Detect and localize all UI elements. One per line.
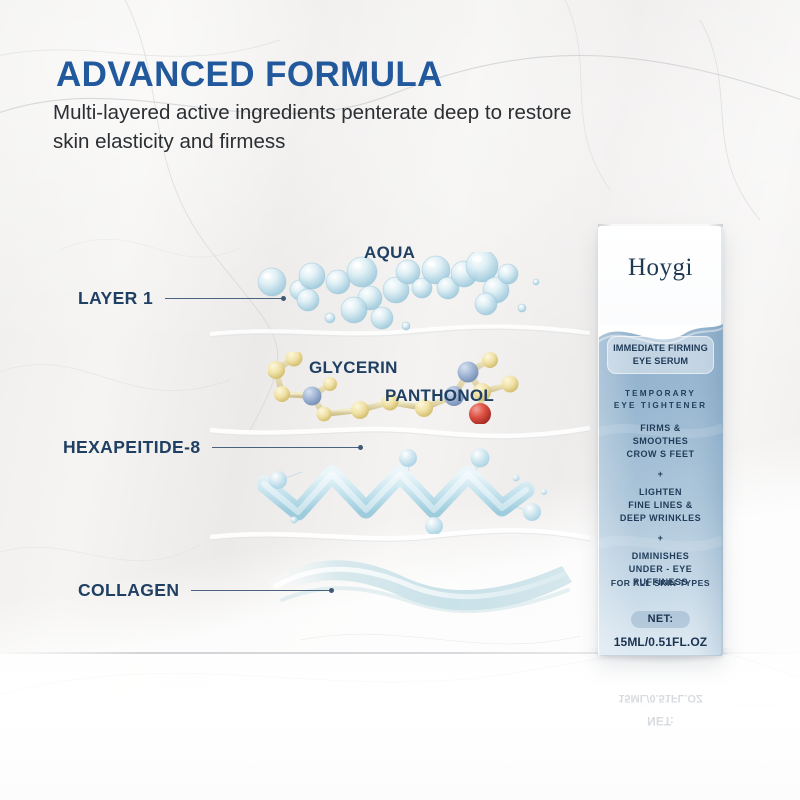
reflection-net-value: 15ML/0.51FL.OZ bbox=[598, 692, 723, 704]
claim-line: LIGHTEN bbox=[598, 486, 723, 499]
infographic-canvas: ADVANCED FORMULA Multi-layered active in… bbox=[0, 0, 800, 800]
leader-line bbox=[191, 590, 331, 591]
callout-label: HEXAPEITIDE-8 bbox=[63, 437, 200, 458]
callout-hexapeptide-8[interactable]: HEXAPEITIDE-8 bbox=[63, 437, 360, 458]
claim-line: SMOOTHES bbox=[598, 435, 723, 448]
claim-group-2: LIGHTEN FINE LINES & DEEP WRINKLES bbox=[598, 486, 723, 525]
product-name-line-2: EYE SERUM bbox=[610, 355, 711, 368]
product-name-badge: IMMEDIATE FIRMING EYE SERUM bbox=[607, 336, 714, 374]
claim-line: FIRMS & bbox=[598, 422, 723, 435]
claim-line: DIMINISHES bbox=[598, 550, 723, 563]
product-tagline: TEMPORARY EYE TIGHTENER bbox=[598, 388, 723, 412]
plus-separator: + bbox=[598, 468, 723, 481]
tagline-line-2: EYE TIGHTENER bbox=[598, 400, 723, 412]
claim-line: DEEP WRINKLES bbox=[598, 512, 723, 525]
callout-label: LAYER 1 bbox=[78, 288, 153, 309]
claim-line: UNDER - EYE bbox=[598, 563, 723, 576]
box-reflection: NET: 15ML/0.51FL.OZ bbox=[598, 658, 723, 732]
claim-line: CROW S FEET bbox=[598, 448, 723, 461]
product-name-line-1: IMMEDIATE FIRMING bbox=[610, 342, 711, 355]
peptide-helix-structure bbox=[258, 448, 552, 534]
callout-layer-1[interactable]: LAYER 1 bbox=[78, 288, 283, 309]
skin-types-note: FOR ALL SKIN TYPES bbox=[598, 578, 723, 588]
page-subtitle: Multi-layered active ingredients pentera… bbox=[53, 98, 573, 156]
product-claims: FIRMS & SMOOTHES CROW S FEET + LIGHTEN F… bbox=[598, 422, 723, 589]
brand-logo: Hoygi bbox=[598, 254, 723, 282]
reflection-net-label: NET: bbox=[598, 714, 723, 728]
product-box[interactable]: Hoygi IMMEDIATE FIRMING EYE SERUM TEMPOR… bbox=[598, 226, 723, 656]
net-value: 15ML/0.51FL.OZ bbox=[598, 635, 723, 649]
tagline-line-1: TEMPORARY bbox=[598, 388, 723, 400]
callout-label: COLLAGEN bbox=[78, 580, 179, 601]
net-label-badge: NET: bbox=[631, 611, 690, 628]
page-title: ADVANCED FORMULA bbox=[56, 55, 443, 95]
caption-aqua: AQUA bbox=[364, 243, 415, 263]
caption-panthonol: PANTHONOL bbox=[385, 386, 494, 406]
callout-collagen[interactable]: COLLAGEN bbox=[78, 580, 331, 601]
aqua-droplet-cluster bbox=[250, 252, 550, 344]
leader-line bbox=[165, 298, 283, 299]
plus-separator: + bbox=[598, 532, 723, 545]
leader-line bbox=[212, 447, 360, 448]
claim-group-1: FIRMS & SMOOTHES CROW S FEET bbox=[598, 422, 723, 461]
caption-glycerin: GLYCERIN bbox=[309, 358, 398, 378]
claim-line: FINE LINES & bbox=[598, 499, 723, 512]
